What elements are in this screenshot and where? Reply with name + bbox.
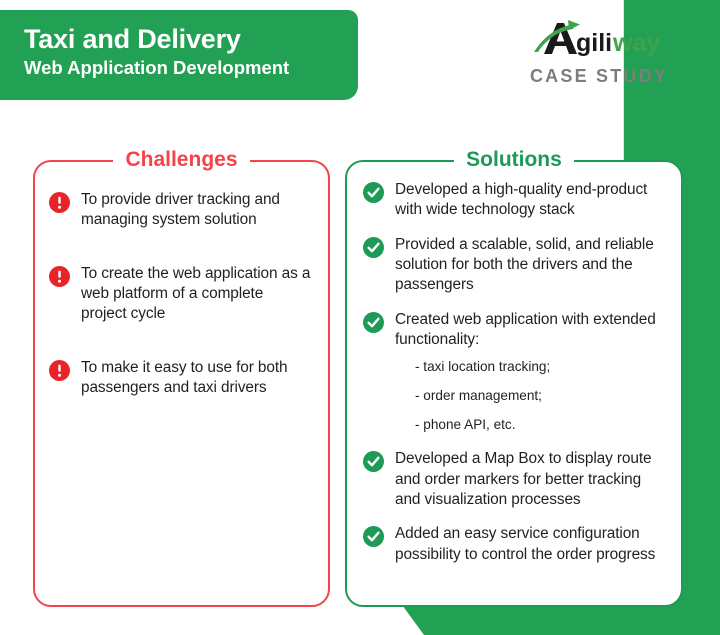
case-study-label: CASE STUDY — [504, 66, 694, 87]
exclamation-circle-icon — [49, 266, 70, 287]
sub-list-item: - phone API, etc. — [415, 416, 669, 434]
exclamation-circle-icon — [49, 192, 70, 213]
list-item-text: Developed a high-quality end-product wit… — [395, 180, 669, 221]
solutions-list: Developed a high-quality end-product wit… — [347, 162, 681, 565]
solutions-panel: Solutions Developed a high-quality end-p… — [345, 160, 683, 607]
svg-text:way: way — [612, 29, 660, 57]
header-band: Taxi and Delivery Web Application Develo… — [0, 10, 358, 100]
list-item: To create the web application as a web p… — [49, 264, 312, 325]
challenges-title-label: Challenges — [113, 149, 249, 170]
list-item: Added an easy service configuration poss… — [363, 524, 669, 565]
list-item: Developed a high-quality end-product wit… — [363, 180, 669, 221]
list-item-text: Created web application with extended fu… — [395, 311, 656, 348]
solutions-title: Solutions — [347, 149, 681, 170]
check-circle-icon — [363, 451, 384, 472]
check-circle-icon — [363, 526, 384, 547]
list-item-text: Developed a Map Box to display route and… — [395, 449, 669, 510]
challenges-list: To provide driver tracking and managing … — [35, 162, 328, 398]
svg-text:gili: gili — [576, 29, 612, 57]
list-item-text: Added an easy service configuration poss… — [395, 524, 669, 565]
check-circle-icon — [363, 312, 384, 333]
list-item: Provided a scalable, solid, and reliable… — [363, 235, 669, 296]
list-item-text: To create the web application as a web p… — [81, 264, 312, 325]
challenges-title: Challenges — [35, 149, 328, 170]
list-item: Created web application with extended fu… — [363, 310, 669, 436]
sub-list-item: - taxi location tracking; — [415, 358, 669, 376]
check-circle-icon — [363, 237, 384, 258]
list-item: To make it easy to use for both passenge… — [49, 358, 312, 399]
sub-list-item: - order management; — [415, 387, 669, 405]
agiliway-logo-icon: gili way — [524, 18, 674, 60]
check-circle-icon — [363, 182, 384, 203]
list-item-text: To provide driver tracking and managing … — [81, 190, 312, 231]
sub-list: - taxi location tracking; - order manage… — [395, 358, 669, 433]
challenges-panel: Challenges To provide driver tracking an… — [33, 160, 330, 607]
list-item-text: To make it easy to use for both passenge… — [81, 358, 312, 399]
page-title: Taxi and Delivery — [24, 24, 358, 54]
list-item-text: Provided a scalable, solid, and reliable… — [395, 235, 669, 296]
exclamation-circle-icon — [49, 360, 70, 381]
page-subtitle: Web Application Development — [24, 57, 358, 79]
list-item: To provide driver tracking and managing … — [49, 190, 312, 231]
brand-logo-area: gili way CASE STUDY — [504, 18, 694, 87]
list-item: Developed a Map Box to display route and… — [363, 449, 669, 510]
solutions-title-label: Solutions — [454, 149, 574, 170]
